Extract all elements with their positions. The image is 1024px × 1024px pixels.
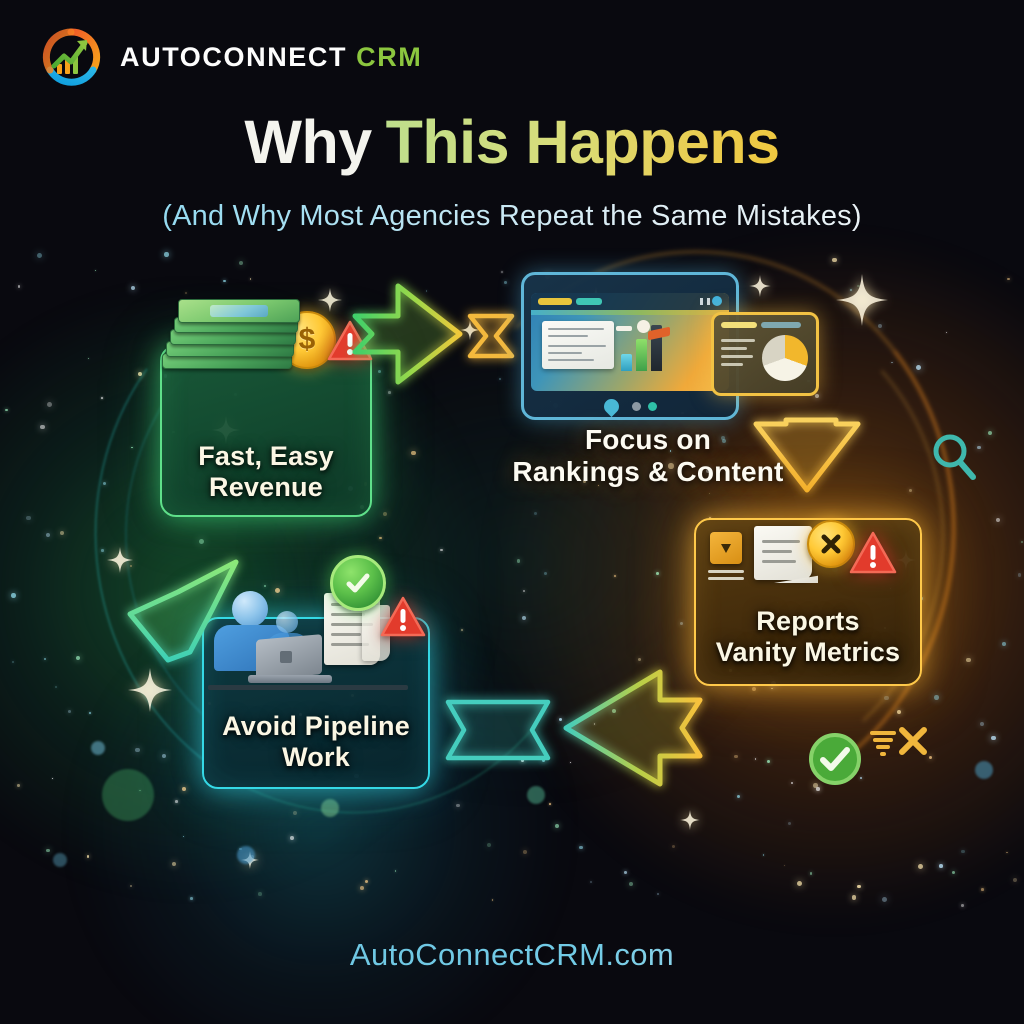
warning-triangle-icon [327,319,373,363]
card-label-line1: Avoid Pipeline [202,711,430,742]
money-stack-icon [156,287,306,379]
page-title: WhyThis Happens [0,112,1024,173]
play-square-icon [710,532,742,564]
page-subtitle: (And Why Most Agencies Repeat the Same M… [0,200,1024,233]
report-document-icon [754,526,812,580]
person-at-laptop-icon [208,589,348,699]
card-label-line2: Rankings & Content [468,456,828,488]
tablet-screen [531,293,729,391]
card-label-line2: Revenue [160,472,372,503]
arrow-reports-to-pipeline-tail [448,702,548,758]
warning-triangle-icon [849,530,897,576]
meta-line [708,570,744,573]
x-mark-icon [896,724,930,758]
card-label: Reports Vanity Metrics [694,606,922,669]
card-label-line1: Focus on [468,424,828,456]
brand-wordmark: AUTOCONNECTCRM [120,44,422,71]
title-part-1: Why [244,108,371,176]
footer-url: AutoConnectCRM.com [0,937,1024,973]
card-label-line2: Vanity Metrics [694,637,922,668]
infographic-canvas: AUTOCONNECTCRM WhyThis Happens (And Why … [0,0,1024,1024]
search-magnifier-icon [928,430,980,486]
pie-chart-panel-icon [711,312,819,396]
card-label-line1: Fast, Easy [160,441,372,472]
x-coin-icon [807,520,855,568]
card-label: Avoid Pipeline Work [202,711,430,774]
green-check-circle-icon [807,731,863,787]
funnel-filter-icon [866,726,900,760]
logo-icon [40,26,102,88]
cycle-step-focus-rankings-content[interactable]: Focus on Rankings & Content [468,420,828,506]
card-label: Fast, Easy Revenue [160,441,372,504]
brand-name-main: AUTOCONNECT [120,42,347,72]
warning-triangle-icon [380,595,426,639]
arrow-reports-to-pipeline [566,672,700,784]
dashboard-tablet-icon [521,272,739,420]
document-panel [542,321,614,369]
card-label-line1: Reports [694,606,922,637]
title-part-2: This Happens [386,108,780,176]
card-label: Focus on Rankings & Content [468,424,828,489]
arrow-revenue-to-rankings-tail [470,316,512,356]
cycle-step-avoid-pipeline-work[interactable]: Avoid Pipeline Work [202,617,430,789]
card-label-line2: Work [202,742,430,773]
brand-name-accent: CRM [356,42,422,72]
cycle-step-fast-easy-revenue[interactable]: $ Fast, Easy Revenue [160,345,372,517]
growth-arrow-chart-circle-icon [40,26,102,88]
brand-header: AUTOCONNECTCRM [40,26,422,88]
meta-line [708,577,744,580]
cycle-step-reports-vanity-metrics[interactable]: Reports Vanity Metrics [694,518,922,686]
